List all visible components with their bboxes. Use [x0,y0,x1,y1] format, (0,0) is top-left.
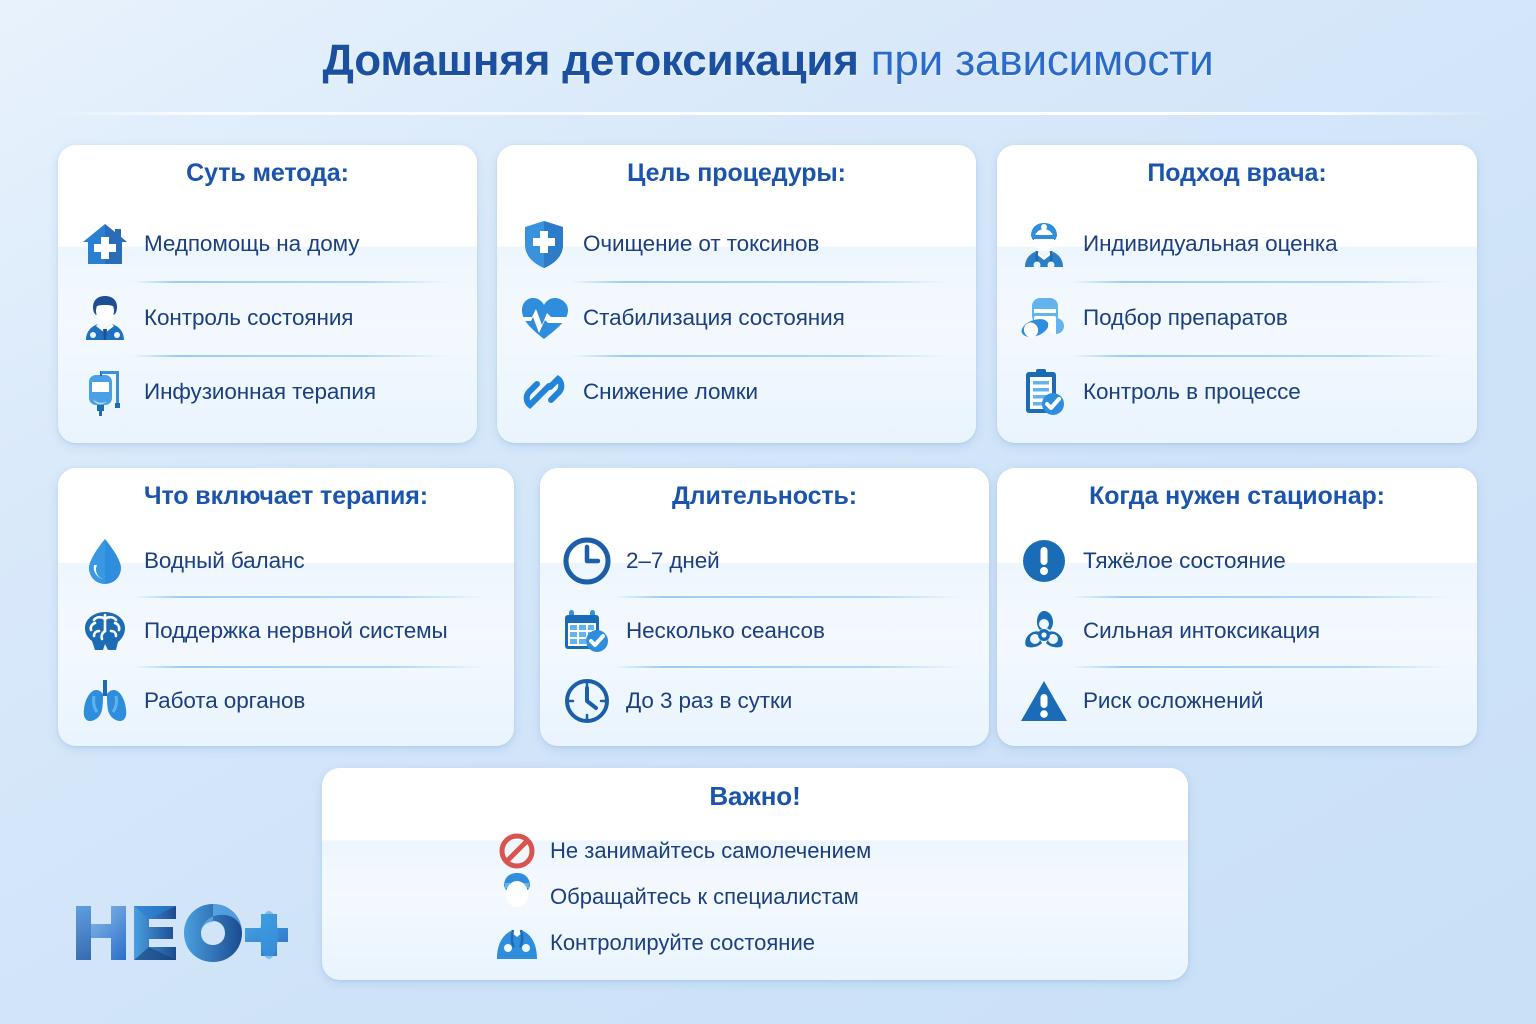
list-item-label: Не занимайтесь самолечением [550,838,871,864]
card-body: Не занимайтесь самолечением Обращайтесь … [322,824,1188,980]
brain-icon [80,604,130,658]
list-item-label: Снижение ломки [583,379,758,405]
list-item-label: Работа органов [144,688,305,714]
card-chto-vklyuchaet: Что включает терапия: Водный баланс [58,468,514,746]
list-item[interactable]: Работа органов [80,666,492,736]
card-body: Медпомощь на дому Контроль состояния [58,201,477,439]
title-divider [42,112,1494,115]
card-podhod-vracha: Подход врача: Индивидуальная оценка [997,145,1477,443]
list-item-label: До 3 раз в сутки [626,688,792,714]
list-item[interactable]: 2–7 дней [562,526,967,596]
list-item[interactable]: Поддержка нервной системы [80,596,492,666]
list-item[interactable]: Контролируйте состояние [494,920,1054,966]
prohibition-icon [494,832,540,870]
card-heading: Когда нужен стационар: [1089,482,1385,511]
page-title-light: при зависимости [871,36,1214,85]
logo-neo-plus[interactable] [72,902,288,964]
medic-figure-icon [494,868,540,960]
list-item-label: Инфузионная терапия [144,379,376,405]
card-body: Очищение от токсинов Стабилизация состоя… [497,201,976,439]
page-title: Домашняя детоксикация при зависимости [0,36,1536,86]
calendar-check-icon [562,604,612,658]
important-rows: Не занимайтесь самолечением Обращайтесь … [494,828,1054,966]
list-item-label: Медпомощь на дому [144,231,359,257]
doctor-cap-icon [1019,217,1069,271]
heart-pulse-icon [519,291,569,345]
list-item-label: Контроль состояния [144,305,353,331]
clock-icon [562,534,612,588]
list-item-label: Несколько сеансов [626,618,825,644]
card-body: Водный баланс [58,524,514,746]
list-item-label: Риск осложнений [1083,688,1263,714]
card-header: Подход врача: [997,145,1477,201]
shield-cross-icon [519,217,569,271]
warning-triangle-icon [1019,674,1069,728]
card-header: Что включает терапия: [58,468,514,524]
list-item[interactable]: Медпомощь на дому [80,207,455,281]
card-dlitelnost: Длительность: 2–7 дней [540,468,989,746]
list-item-label: Стабилизация состояния [583,305,845,331]
card-body: 2–7 дней Несколько сеанс [540,524,989,746]
list-item-label: Сильная интоксикация [1083,618,1320,644]
card-kogda-stacionar: Когда нужен стационар: Тяжёлое состояние [997,468,1477,746]
list-item-label: 2–7 дней [626,548,720,574]
card-header: Важно! [322,768,1188,824]
list-item-label: Поддержка нервной системы [144,618,448,644]
list-item[interactable]: Контроль в процессе [1019,355,1455,429]
list-item[interactable]: Несколько сеансов [562,596,967,666]
list-item-label: Тяжёлое состояние [1083,548,1286,574]
list-item-label: Контролируйте состояние [550,930,815,956]
pills-icon [1019,291,1069,345]
list-item-label: Очищение от токсинов [583,231,819,257]
list-item-label: Обращайтесь к специалистам [550,884,859,910]
list-item[interactable]: Стабилизация состояния [519,281,954,355]
list-item[interactable]: Водный баланс [80,526,492,596]
card-heading: Длительность: [672,482,857,511]
list-item[interactable]: Тяжёлое состояние [1019,526,1455,596]
card-header: Суть метода: [58,145,477,201]
card-heading: Подход врача: [1147,159,1326,188]
list-item[interactable]: Риск осложнений [1019,666,1455,736]
list-item[interactable]: Снижение ломки [519,355,954,429]
clipboard-check-icon [1019,365,1069,419]
card-heading: Цель процедуры: [627,159,846,188]
water-drop-icon [80,534,130,588]
clock-ticks-icon [562,674,612,728]
exclamation-circle-icon [1019,534,1069,588]
list-item[interactable]: Сильная интоксикация [1019,596,1455,666]
list-item-label: Контроль в процессе [1083,379,1301,405]
list-item-label: Индивидуальная оценка [1083,231,1338,257]
card-sut-metoda: Суть метода: Медпомощь на дому [58,145,477,443]
page-title-strong: Домашняя детоксикация [323,36,859,85]
list-item-label: Водный баланс [144,548,304,574]
list-item[interactable]: Очищение от токсинов [519,207,954,281]
chain-link-icon [519,365,569,419]
house-cross-icon [80,217,130,271]
card-heading: Суть метода: [186,159,349,188]
list-item[interactable]: Обращайтесь к специалистам [494,874,1054,920]
card-header: Длительность: [540,468,989,524]
list-item[interactable]: Не занимайтесь самолечением [494,828,1054,874]
card-heading: Что включает терапия: [144,482,428,511]
card-header: Когда нужен стационар: [997,468,1477,524]
iv-drip-icon [80,365,130,419]
list-item[interactable]: Контроль состояния [80,281,455,355]
card-body: Тяжёлое состояние Сильная [997,524,1477,746]
card-header: Цель процедуры: [497,145,976,201]
card-cel-procedury: Цель процедуры: Очищение от токсинов Ста… [497,145,976,443]
card-heading: Важно! [709,781,800,812]
biohazard-icon [1019,604,1069,658]
doctor-icon [80,291,130,345]
card-body: Индивидуальная оценка Подбор препаратов [997,201,1477,439]
list-item[interactable]: Индивидуальная оценка [1019,207,1455,281]
list-item-label: Подбор препаратов [1083,305,1288,331]
list-item[interactable]: До 3 раз в сутки [562,666,967,736]
list-item[interactable]: Инфузионная терапия [80,355,455,429]
lungs-icon [80,674,130,728]
card-important: Важно! [322,768,1188,980]
list-item[interactable]: Подбор препаратов [1019,281,1455,355]
